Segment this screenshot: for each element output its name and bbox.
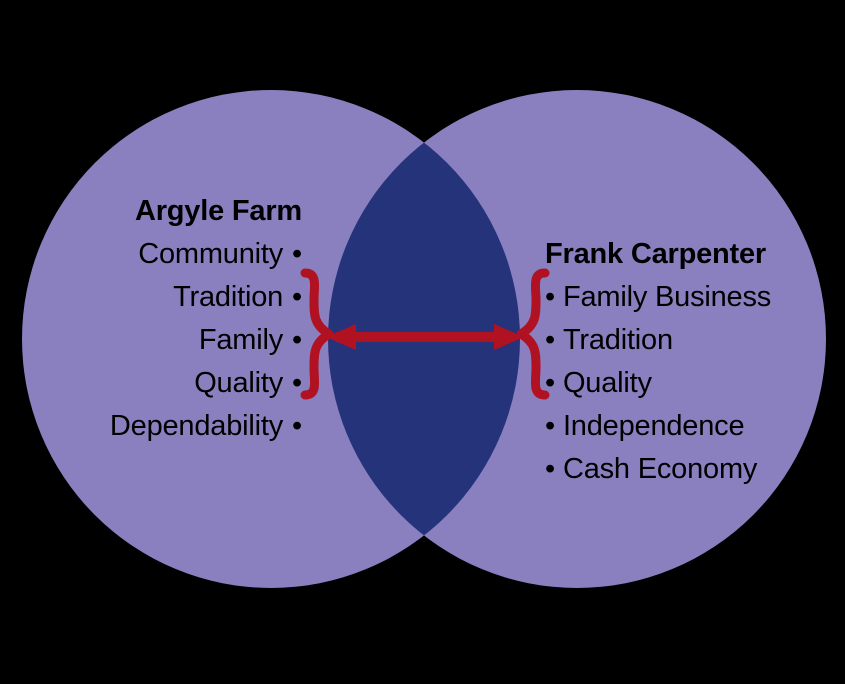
left-item-label-2: Family — [199, 324, 283, 356]
left-set-labels: Argyle Farm Community• Tradition• Family… — [0, 190, 302, 448]
right-list-item-3: •Independence — [545, 405, 845, 448]
right-item-label-1: Tradition — [563, 324, 673, 356]
right-list-item-4: •Cash Economy — [545, 448, 845, 491]
bullet-icon: • — [545, 405, 555, 448]
bullet-icon: • — [292, 405, 302, 448]
bullet-icon: • — [292, 319, 302, 362]
left-list-item-2: Family• — [0, 319, 302, 362]
left-item-label-0: Community — [138, 238, 283, 270]
right-item-label-4: Cash Economy — [563, 453, 757, 485]
left-list-item-4: Dependability• — [0, 405, 302, 448]
right-item-label-2: Quality — [563, 367, 652, 399]
left-list-item-0: Community• — [0, 233, 302, 276]
left-item-label-3: Quality — [194, 367, 283, 399]
right-list-item-2: •Quality — [545, 362, 845, 405]
left-item-label-1: Tradition — [173, 281, 283, 313]
bullet-icon: • — [545, 319, 555, 362]
right-list-item-0: •Family Business — [545, 276, 845, 319]
venn-diagram-canvas: Argyle Farm Community• Tradition• Family… — [0, 0, 845, 684]
right-set-labels: Frank Carpenter •Family Business •Tradit… — [545, 233, 845, 491]
bullet-icon: • — [292, 362, 302, 405]
left-set-title: Argyle Farm — [0, 190, 302, 233]
left-list-item-1: Tradition• — [0, 276, 302, 319]
right-list-item-1: •Tradition — [545, 319, 845, 362]
left-item-label-4: Dependability — [110, 410, 283, 442]
bullet-icon: • — [545, 276, 555, 319]
right-item-label-3: Independence — [563, 410, 744, 442]
right-item-label-0: Family Business — [563, 281, 771, 313]
bullet-icon: • — [545, 448, 555, 491]
left-list-item-3: Quality• — [0, 362, 302, 405]
right-set-title: Frank Carpenter — [545, 233, 845, 276]
bullet-icon: • — [545, 362, 555, 405]
bullet-icon: • — [292, 233, 302, 276]
bullet-icon: • — [292, 276, 302, 319]
